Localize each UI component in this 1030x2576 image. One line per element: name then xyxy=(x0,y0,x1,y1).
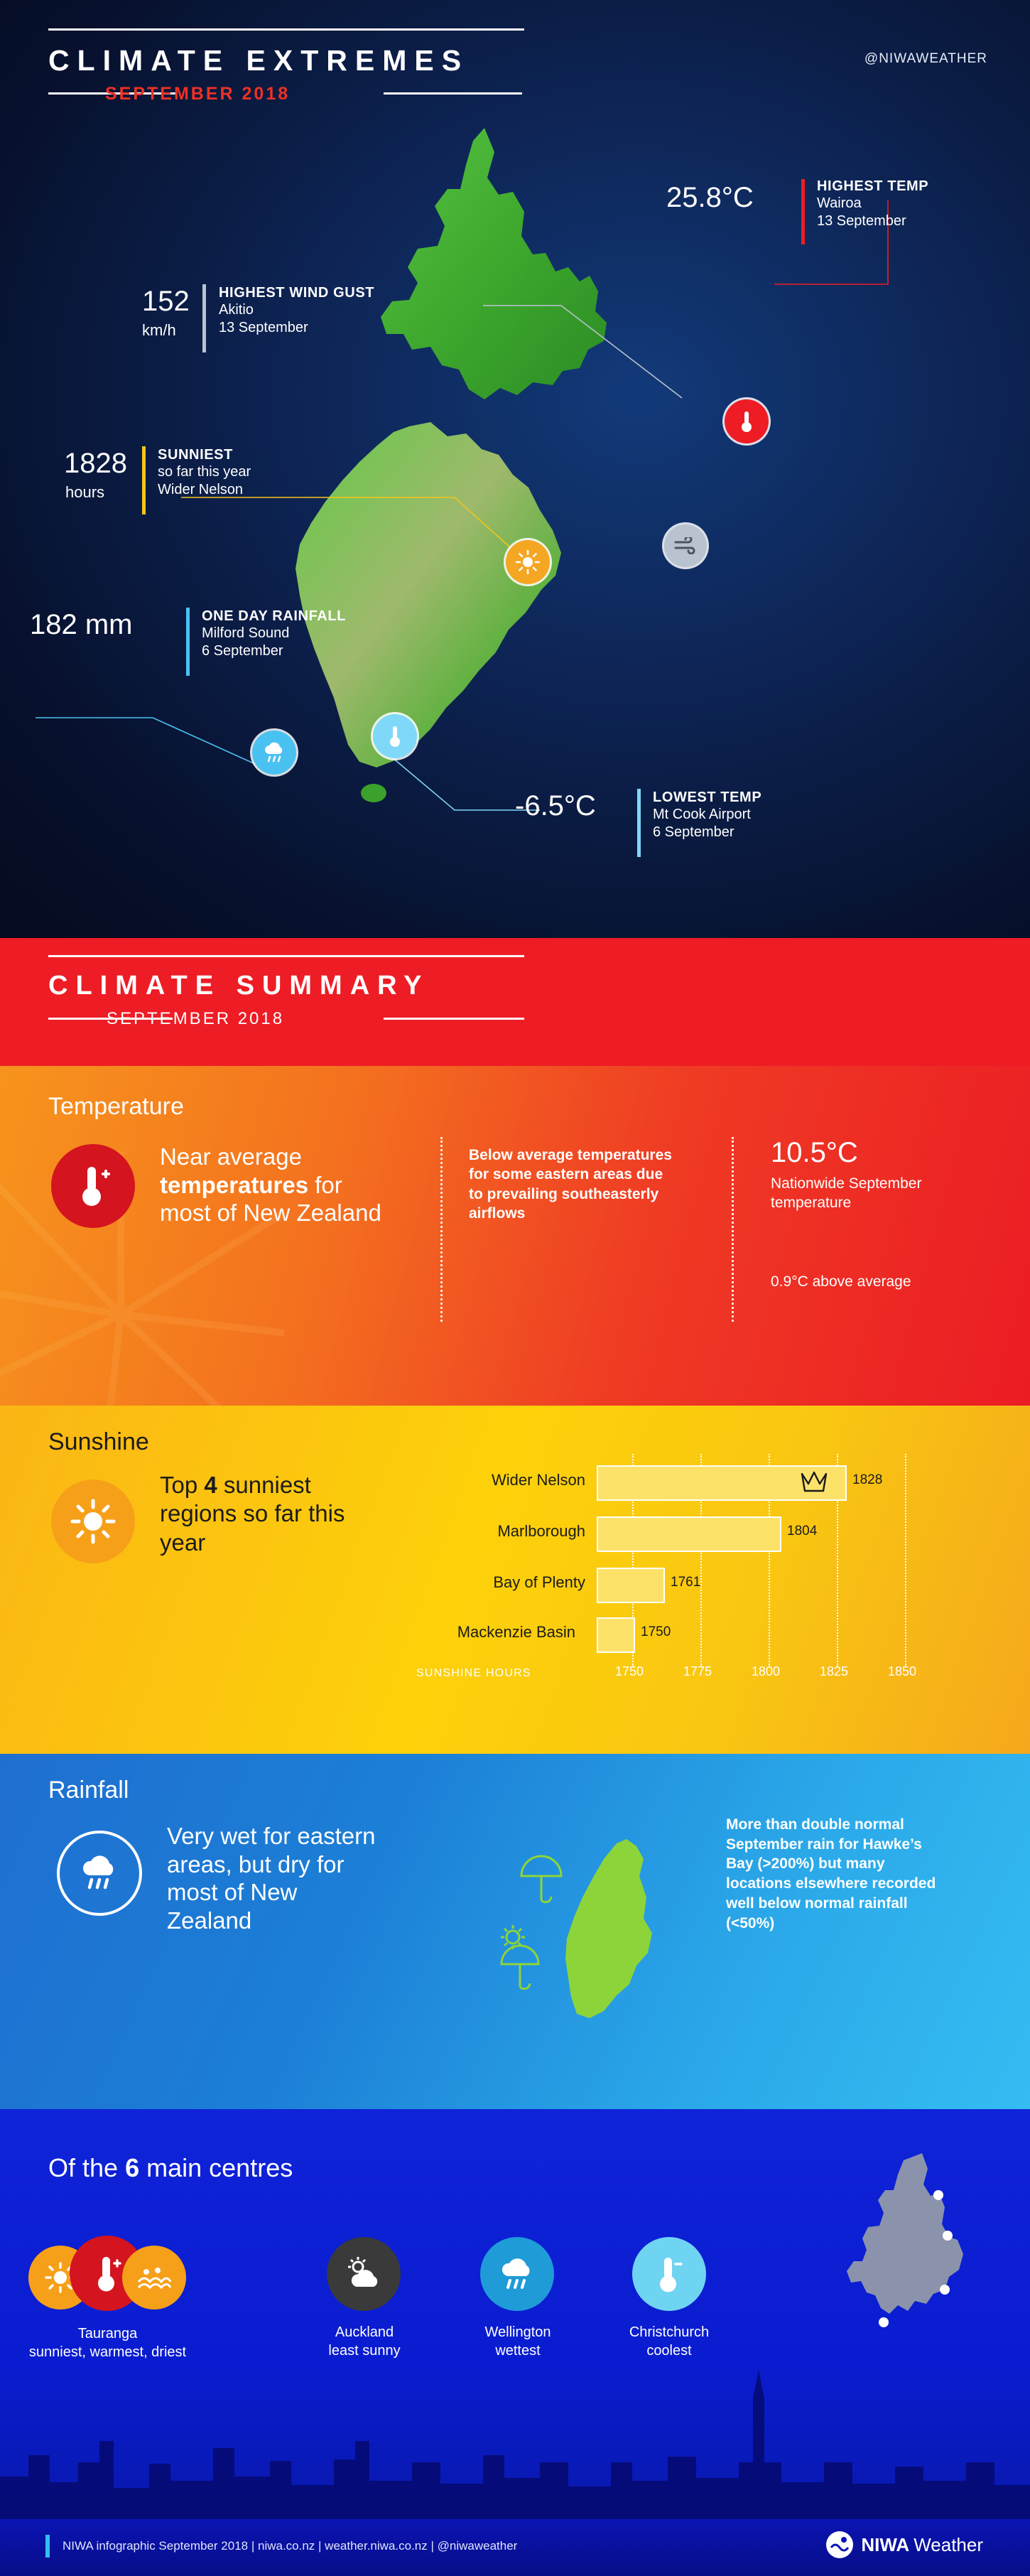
niwa-mark-icon xyxy=(825,2531,854,2559)
sunshine-heading: Sunshine xyxy=(48,1428,149,1456)
tick-1750: 1750 xyxy=(615,1664,644,1679)
tick-1800: 1800 xyxy=(752,1664,780,1679)
bar-category-2: Bay of Plenty xyxy=(408,1573,585,1592)
callout-highest-temp: 25.8°C HIGHEST TEMP Wairoa 13 September xyxy=(666,178,993,256)
rainfall-section: Rainfall Very wet for eastern areas, but… xyxy=(0,1754,1030,2109)
thermometer-cold-icon xyxy=(654,2253,685,2295)
nz-silhouette xyxy=(565,1839,652,2018)
footer-accent xyxy=(45,2535,50,2558)
callout-line2: Milford Sound xyxy=(202,625,289,641)
callout-line2: Akitio xyxy=(219,302,254,318)
centres-heading: Of the 6 main centres xyxy=(48,2153,293,2183)
rainfall-icon-circle xyxy=(57,1831,142,1916)
callout-title: LOWEST TEMP xyxy=(653,789,761,805)
climate-summary-banner: CLIMATE SUMMARY SEPTEMBER 2018 xyxy=(0,938,1030,1066)
centre-dot-christchurch xyxy=(879,2317,889,2327)
temperature-lead-bold: temperatures xyxy=(160,1172,308,1198)
centre-name: Auckland xyxy=(335,2324,394,2340)
callout-accent-bar xyxy=(637,789,641,857)
callout-line3: 13 September xyxy=(219,320,308,335)
centre-name: Christchurch xyxy=(629,2324,709,2340)
gridline-1850 xyxy=(905,1454,906,1667)
callout-line2: Wairoa xyxy=(817,195,862,211)
rain-cloud-icon xyxy=(497,2256,537,2292)
callout-line3: 6 September xyxy=(653,824,734,840)
thermometer-cold-icon xyxy=(386,724,404,748)
temperature-heading: Temperature xyxy=(48,1093,184,1121)
thermometer-icon xyxy=(737,409,756,433)
sunshine-lead-part1: Top xyxy=(160,1472,197,1498)
callout-title: HIGHEST WIND GUST xyxy=(219,285,374,301)
centre-name: Wellington xyxy=(484,2324,551,2340)
niwa-logo: NIWAWeather xyxy=(825,2531,983,2559)
bar-3 xyxy=(597,1617,635,1653)
callout-accent-bar xyxy=(801,179,805,244)
map-badge-highest-temp xyxy=(725,399,769,443)
umbrella-icon-1 xyxy=(521,1856,561,1902)
callout-lowest-temp: -6.5°C LOWEST TEMP Mt Cook Airport 6 Sep… xyxy=(515,789,955,874)
callout-value: 25.8°C xyxy=(666,183,754,212)
bar-value-0: 1828 xyxy=(852,1472,882,1488)
rain-cloud-icon xyxy=(78,1854,121,1892)
infographic-page: CLIMATE EXTREMES SEPTEMBER 2018 @NIWAWEA… xyxy=(0,0,1030,2576)
map-badge-lowest-temp xyxy=(373,714,417,758)
callout-title: ONE DAY RAINFALL xyxy=(202,608,346,624)
sunshine-lead-number: 4 xyxy=(204,1472,217,1498)
bar-2 xyxy=(597,1568,665,1603)
footer-text: NIWA infographic September 2018 | niwa.c… xyxy=(63,2539,517,2553)
centre-label-wellington: Wellington wettest xyxy=(445,2324,591,2360)
callout-unit: km/h xyxy=(142,321,176,340)
temperature-divider-2 xyxy=(732,1137,734,1322)
bar-value-2: 1761 xyxy=(671,1575,700,1590)
centres-heading-part2: main centres xyxy=(146,2153,293,2182)
callout-line3: 13 September xyxy=(817,213,906,229)
sun-icon xyxy=(516,550,540,574)
niwa-brand-bold: NIWA xyxy=(861,2534,909,2556)
crown-icon xyxy=(800,1470,828,1494)
banner-title: CLIMATE SUMMARY xyxy=(48,971,430,1001)
thermometer-plus-icon xyxy=(91,2253,124,2294)
callout-one-day-rainfall: 182 mm ONE DAY RAINFALL Milford Sound 6 … xyxy=(30,608,456,693)
banner-rule-right xyxy=(384,1018,524,1020)
centre-dot-auckland xyxy=(933,2190,943,2200)
rainfall-lead: Very wet for eastern areas, but dry for … xyxy=(167,1822,380,1934)
nationwide-temperature-note: 0.9°C above average xyxy=(771,1272,948,1291)
cloud-sun-icon xyxy=(344,2256,384,2292)
temperature-section: Temperature Near average temperatures fo… xyxy=(0,1066,1030,1406)
bar-category-3: Mackenzie Basin xyxy=(398,1623,575,1642)
bar-category-1: Marlborough xyxy=(408,1522,585,1541)
nationwide-temperature-label: Nationwide September temperature xyxy=(771,1174,948,1213)
centres-heading-part1: Of the xyxy=(48,2153,118,2182)
sun-icon xyxy=(70,1499,116,1544)
map-badge-sunniest xyxy=(506,540,550,584)
callout-accent-bar xyxy=(142,446,146,514)
footer-bar: NIWA infographic September 2018 | niwa.c… xyxy=(0,2519,1030,2576)
callout-title: SUNNIEST xyxy=(158,447,233,463)
wind-icon xyxy=(673,537,698,554)
callout-accent-bar xyxy=(202,284,206,352)
dry-ground-icon xyxy=(136,2263,172,2292)
callout-accent-bar xyxy=(186,608,190,676)
callout-value: 182 mm xyxy=(30,610,133,639)
bar-value-3: 1750 xyxy=(641,1624,671,1640)
callout-highest-wind-gust: 152 km/h HIGHEST WIND GUST Akitio 13 Sep… xyxy=(142,284,540,370)
sunshine-lead: Top 4 sunniest regions so far this year xyxy=(160,1471,359,1557)
centre-desc: least sunny xyxy=(328,2343,400,2359)
centre-desc: coolest xyxy=(646,2343,691,2359)
centres-nz-map xyxy=(838,2150,980,2385)
centre-dot-tauranga xyxy=(943,2231,953,2241)
callout-line2: Mt Cook Airport xyxy=(653,807,751,822)
rain-cloud-icon-circle xyxy=(480,2237,554,2311)
callout-value: 152 xyxy=(142,287,190,316)
skyline-shape xyxy=(0,2370,1030,2519)
callout-line2: so far this year xyxy=(158,464,251,480)
sunshine-section: Sunshine Top 4 sunniest regions so far t… xyxy=(0,1406,1030,1754)
main-centres-section: Of the 6 main centres xyxy=(0,2109,1030,2576)
temperature-lead-part1: Near average xyxy=(160,1143,302,1170)
umbrella-icon-2 xyxy=(502,1946,538,1989)
centre-desc: sunniest, warmest, driest xyxy=(29,2344,186,2360)
callout-line3: Wider Nelson xyxy=(158,482,243,497)
bar-1 xyxy=(597,1516,781,1552)
niwa-brand-light: Weather xyxy=(914,2534,983,2556)
centre-label-auckland: Auckland least sunny xyxy=(290,2324,439,2360)
temperature-divider-1 xyxy=(440,1137,443,1322)
centre-label-tauranga: Tauranga sunniest, warmest, driest xyxy=(24,2325,191,2361)
leader-rainfall xyxy=(36,718,263,767)
centre-desc: wettest xyxy=(495,2343,540,2359)
map-badge-wind xyxy=(664,524,707,567)
tick-1775: 1775 xyxy=(683,1664,712,1679)
centres-heading-number: 6 xyxy=(125,2153,139,2182)
map-badge-rainfall xyxy=(252,731,296,775)
hero-section: CLIMATE EXTREMES SEPTEMBER 2018 @NIWAWEA… xyxy=(0,0,1030,938)
temperature-lead: Near average temperatures for most of Ne… xyxy=(160,1143,394,1227)
temperature-icon-circle xyxy=(51,1144,135,1228)
callout-sunniest: 1828 hours SUNNIEST so far this year Wid… xyxy=(64,446,462,532)
sunshine-icon-circle xyxy=(51,1480,135,1563)
sunshine-bar-chart: Wider Nelson 1828 Marlborough 1804 Bay o… xyxy=(398,1454,987,1710)
callout-unit: hours xyxy=(65,483,104,502)
tick-1850: 1850 xyxy=(888,1664,916,1679)
cloud-sun-icon-circle xyxy=(327,2237,401,2311)
callout-line3: 6 September xyxy=(202,643,283,659)
callout-value: 1828 xyxy=(64,449,127,478)
rainfall-heading: Rainfall xyxy=(48,1777,129,1804)
dry-ground-icon-circle xyxy=(122,2246,186,2310)
centre-name: Tauranga xyxy=(78,2326,137,2341)
callout-value: -6.5°C xyxy=(515,792,596,820)
rainfall-note: More than double normal September rain f… xyxy=(726,1815,953,1933)
banner-subtitle: SEPTEMBER 2018 xyxy=(107,1009,284,1029)
centre-label-christchurch: Christchurch coolest xyxy=(594,2324,744,2360)
tick-1825: 1825 xyxy=(820,1664,848,1679)
chart-axis-title: SUNSHINE HOURS xyxy=(416,1667,531,1680)
thermometer-plus-icon xyxy=(75,1163,112,1209)
temperature-middle-note: Below average temperatures for some east… xyxy=(469,1146,675,1223)
sun-icon xyxy=(501,1925,525,1949)
rain-cloud-icon xyxy=(262,742,286,763)
nationwide-temperature-value: 10.5°C xyxy=(771,1137,858,1169)
bar-value-1: 1804 xyxy=(787,1524,817,1539)
banner-rule-top xyxy=(48,955,524,957)
callout-title: HIGHEST TEMP xyxy=(817,178,928,194)
umbrella-map-graphic xyxy=(497,1832,710,2045)
centre-dot-wellington xyxy=(940,2285,950,2295)
thermometer-cold-icon-circle xyxy=(632,2237,706,2311)
bar-category-0: Wider Nelson xyxy=(408,1471,585,1489)
